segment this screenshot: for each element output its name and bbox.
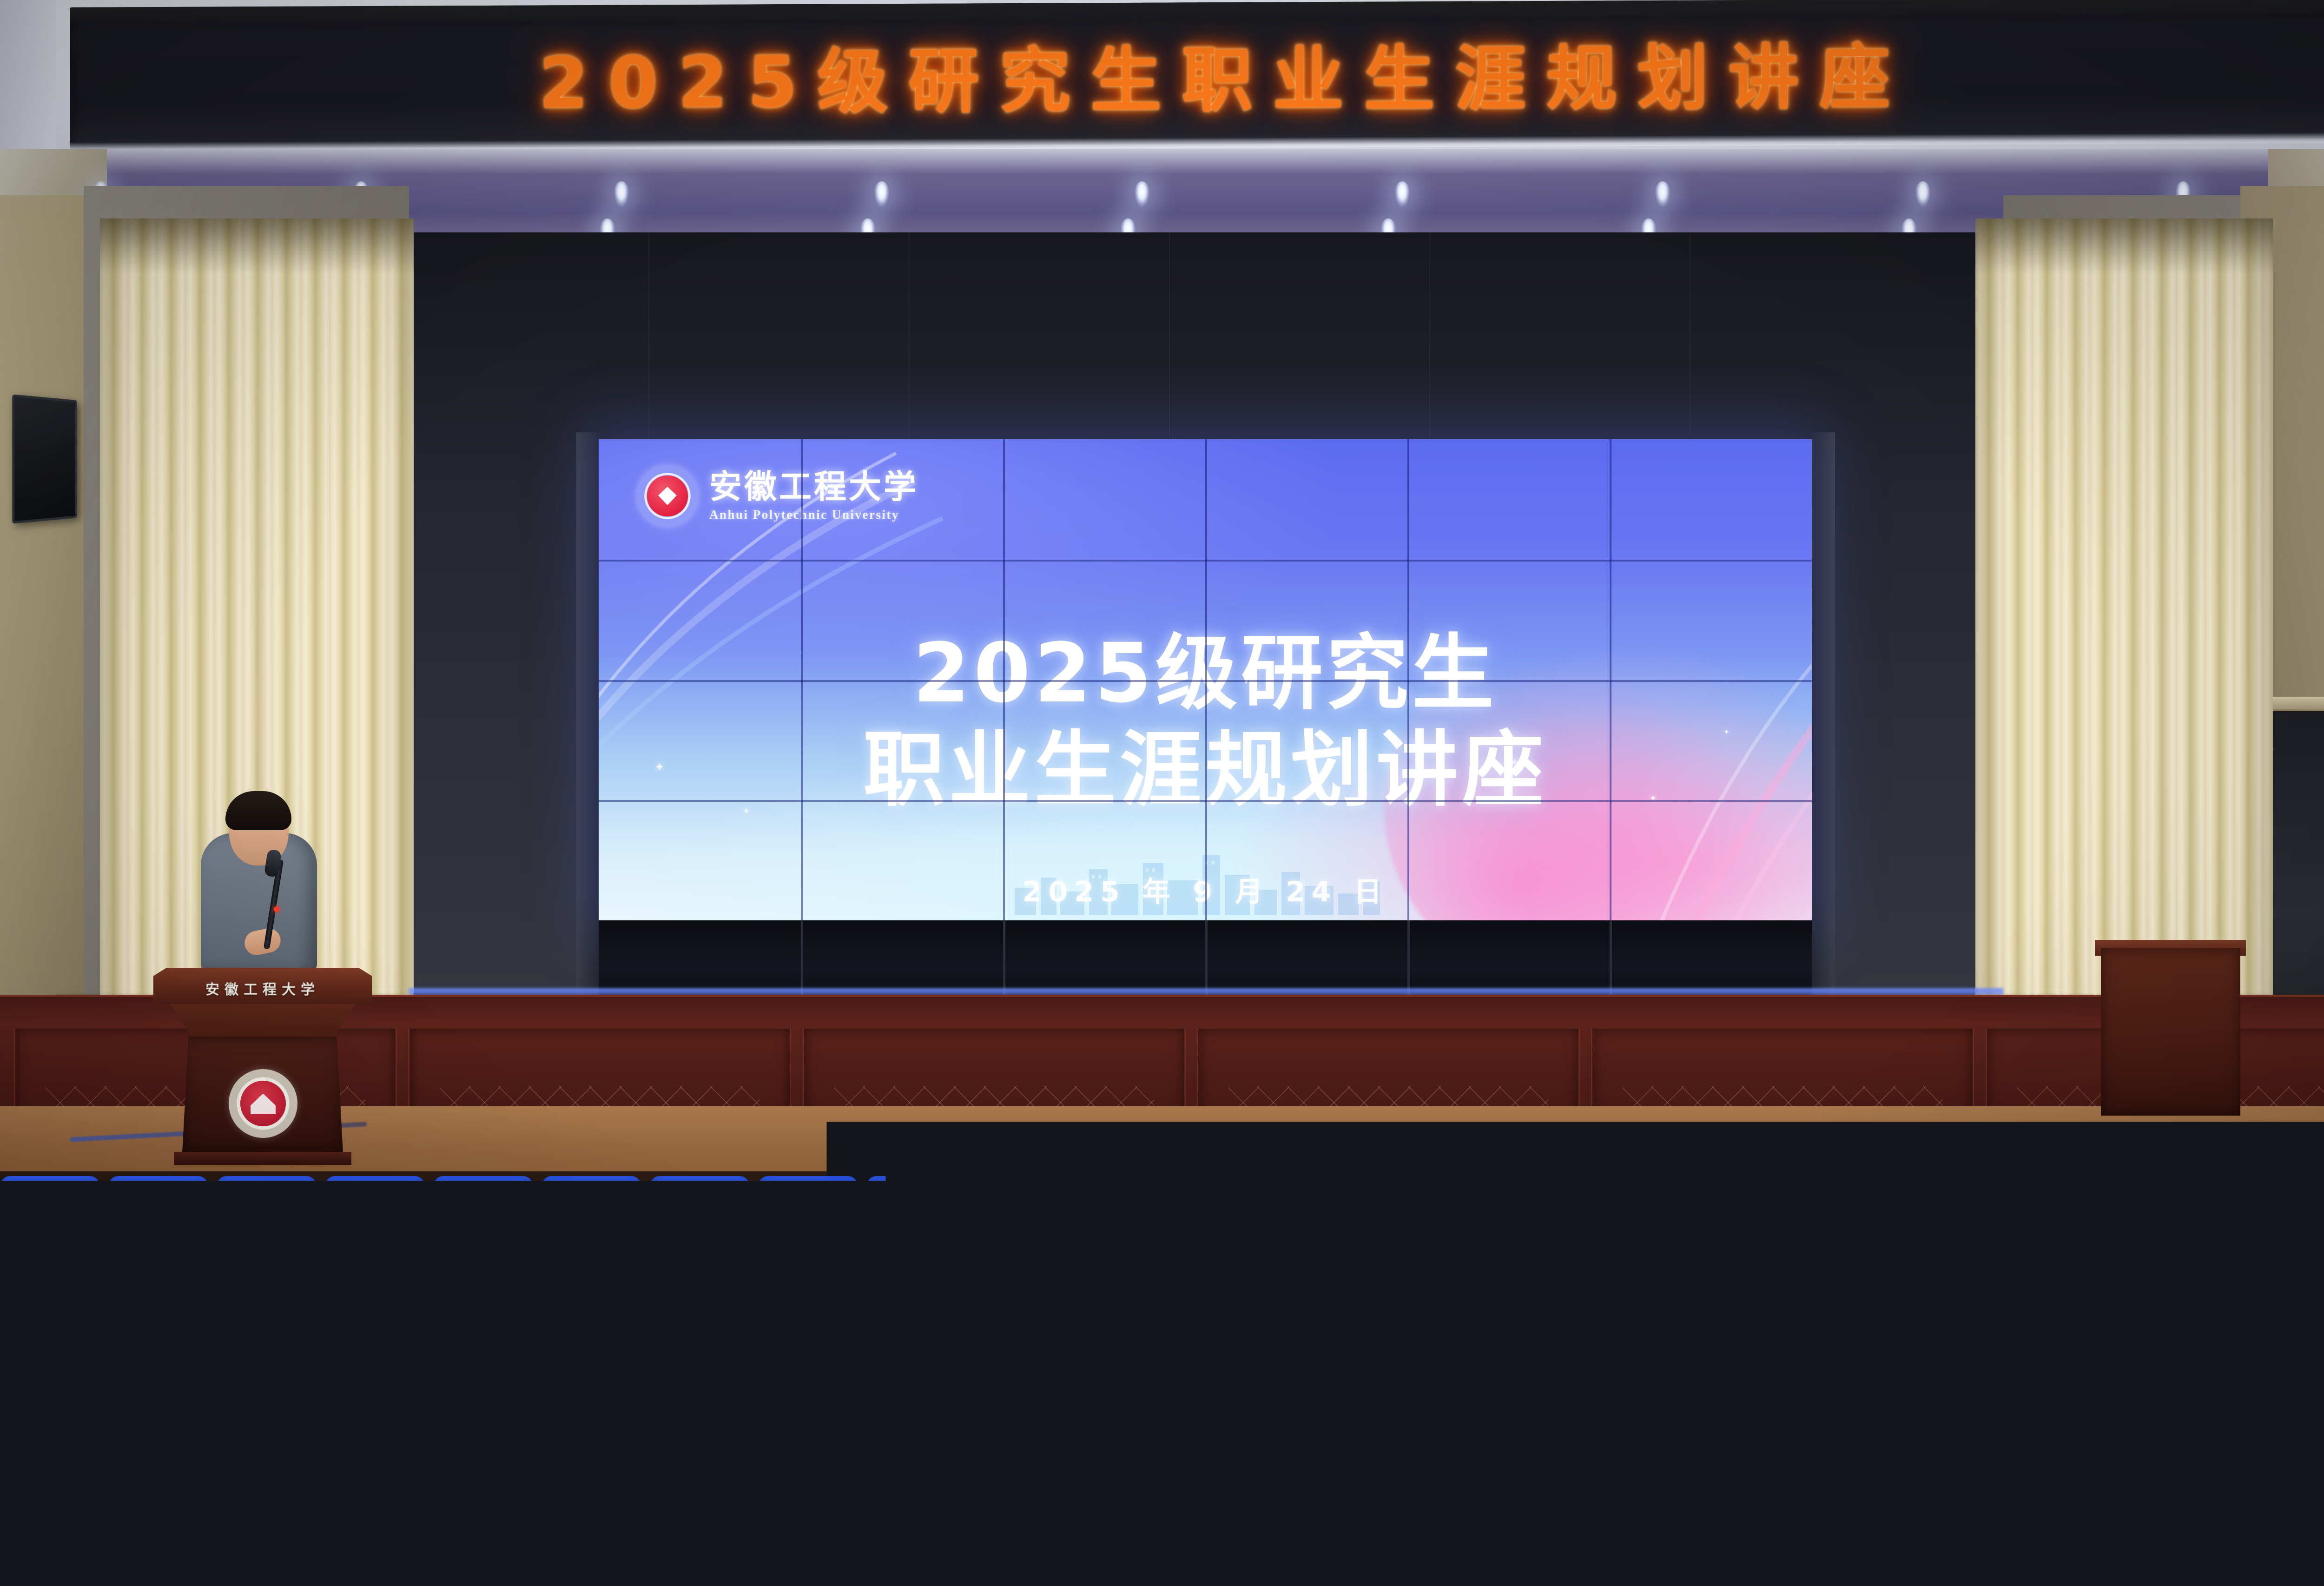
audience-seat: [1358, 1539, 1578, 1586]
audience-seat: [891, 1539, 1111, 1586]
audience-seat: [425, 1539, 644, 1586]
audience-seat: [2058, 1539, 2278, 1586]
curtain-shadow-left: [100, 218, 414, 274]
led-banner-display: 2025级研究生职业生涯规划讲座: [70, 0, 2324, 147]
podium-base: [174, 1152, 351, 1165]
seat-cushion: [2311, 1556, 2324, 1586]
seat-cushion: [444, 1556, 624, 1586]
microphone-indicator-light: [274, 906, 279, 912]
led-banner-text: 2025级研究生职业生涯规划讲座: [70, 18, 2324, 130]
ceiling-downlight: [1915, 181, 1931, 207]
audience-seating-area: [0, 1171, 2324, 1586]
videowall-display: ✦ ✦ ✦ ✦ ✦ 安徽工程大学 Anhui Polytechnic Unive…: [599, 439, 1812, 920]
seat-cushion: [1378, 1556, 1558, 1586]
slide-title-line1: 2025级研究生: [599, 625, 1812, 722]
seat-cushion: [0, 1556, 158, 1586]
curtain-shadow-right: [1975, 218, 2273, 274]
slide-title: 2025级研究生 职业生涯规划讲座: [599, 625, 1812, 818]
podium-name-plate: 安徽工程大学: [153, 978, 372, 998]
plush-ear-left: [1777, 1391, 1797, 1411]
podium-and-speaker: 安徽工程大学: [153, 790, 372, 1162]
ceiling-downlight: [614, 181, 629, 207]
ceiling-downlight: [1655, 181, 1670, 207]
podium-neck: [170, 1004, 355, 1038]
audience-seat: [191, 1539, 411, 1586]
plush-ear-right: [1824, 1391, 1843, 1411]
ceiling-downlight: [1394, 181, 1410, 207]
side-lectern: [2101, 948, 2240, 1116]
audience-seat: [0, 1539, 178, 1586]
wall-monitor-screen: [12, 394, 77, 524]
podium-crest-icon: [229, 1069, 297, 1138]
speaker-hair: [225, 791, 291, 830]
ceiling-downlight: [1134, 181, 1150, 207]
audience-seat: [1125, 1539, 1344, 1586]
seat-cushion: [1144, 1556, 1324, 1586]
audience-seat: [1591, 1539, 1811, 1586]
plush-snout: [1799, 1420, 1822, 1441]
wall-jamb-left: [0, 0, 56, 158]
seat-cushion: [678, 1556, 858, 1586]
videowall-frame-left: [576, 432, 601, 1004]
university-name-en: Anhui Polytechnic University: [709, 508, 918, 522]
seat-cushion: [211, 1556, 391, 1586]
ceiling-downlight: [874, 181, 890, 207]
seat-cushion: [911, 1556, 1091, 1586]
plush-fox-toy: [1776, 1394, 1845, 1449]
university-logo: 安徽工程大学 Anhui Polytechnic University: [638, 466, 918, 526]
slide-title-line2: 职业生涯规划讲座: [599, 722, 1812, 819]
auditorium-photo: 2025级研究生职业生涯规划讲座: [0, 0, 2324, 1586]
audience-seat: [658, 1539, 878, 1586]
university-name-cn: 安徽工程大学: [709, 470, 918, 503]
videowall-frame-right: [1811, 432, 1835, 1004]
seat-cushion: [2078, 1556, 2258, 1586]
seat-cushion: [1844, 1556, 2024, 1586]
university-crest-icon: [638, 466, 697, 526]
audience-seat: [1825, 1539, 2044, 1586]
slide-date: 2025 年 9 月 24 日: [599, 869, 1812, 910]
seat-cushion: [1611, 1556, 1791, 1586]
audience-seat: [2291, 1539, 2324, 1586]
